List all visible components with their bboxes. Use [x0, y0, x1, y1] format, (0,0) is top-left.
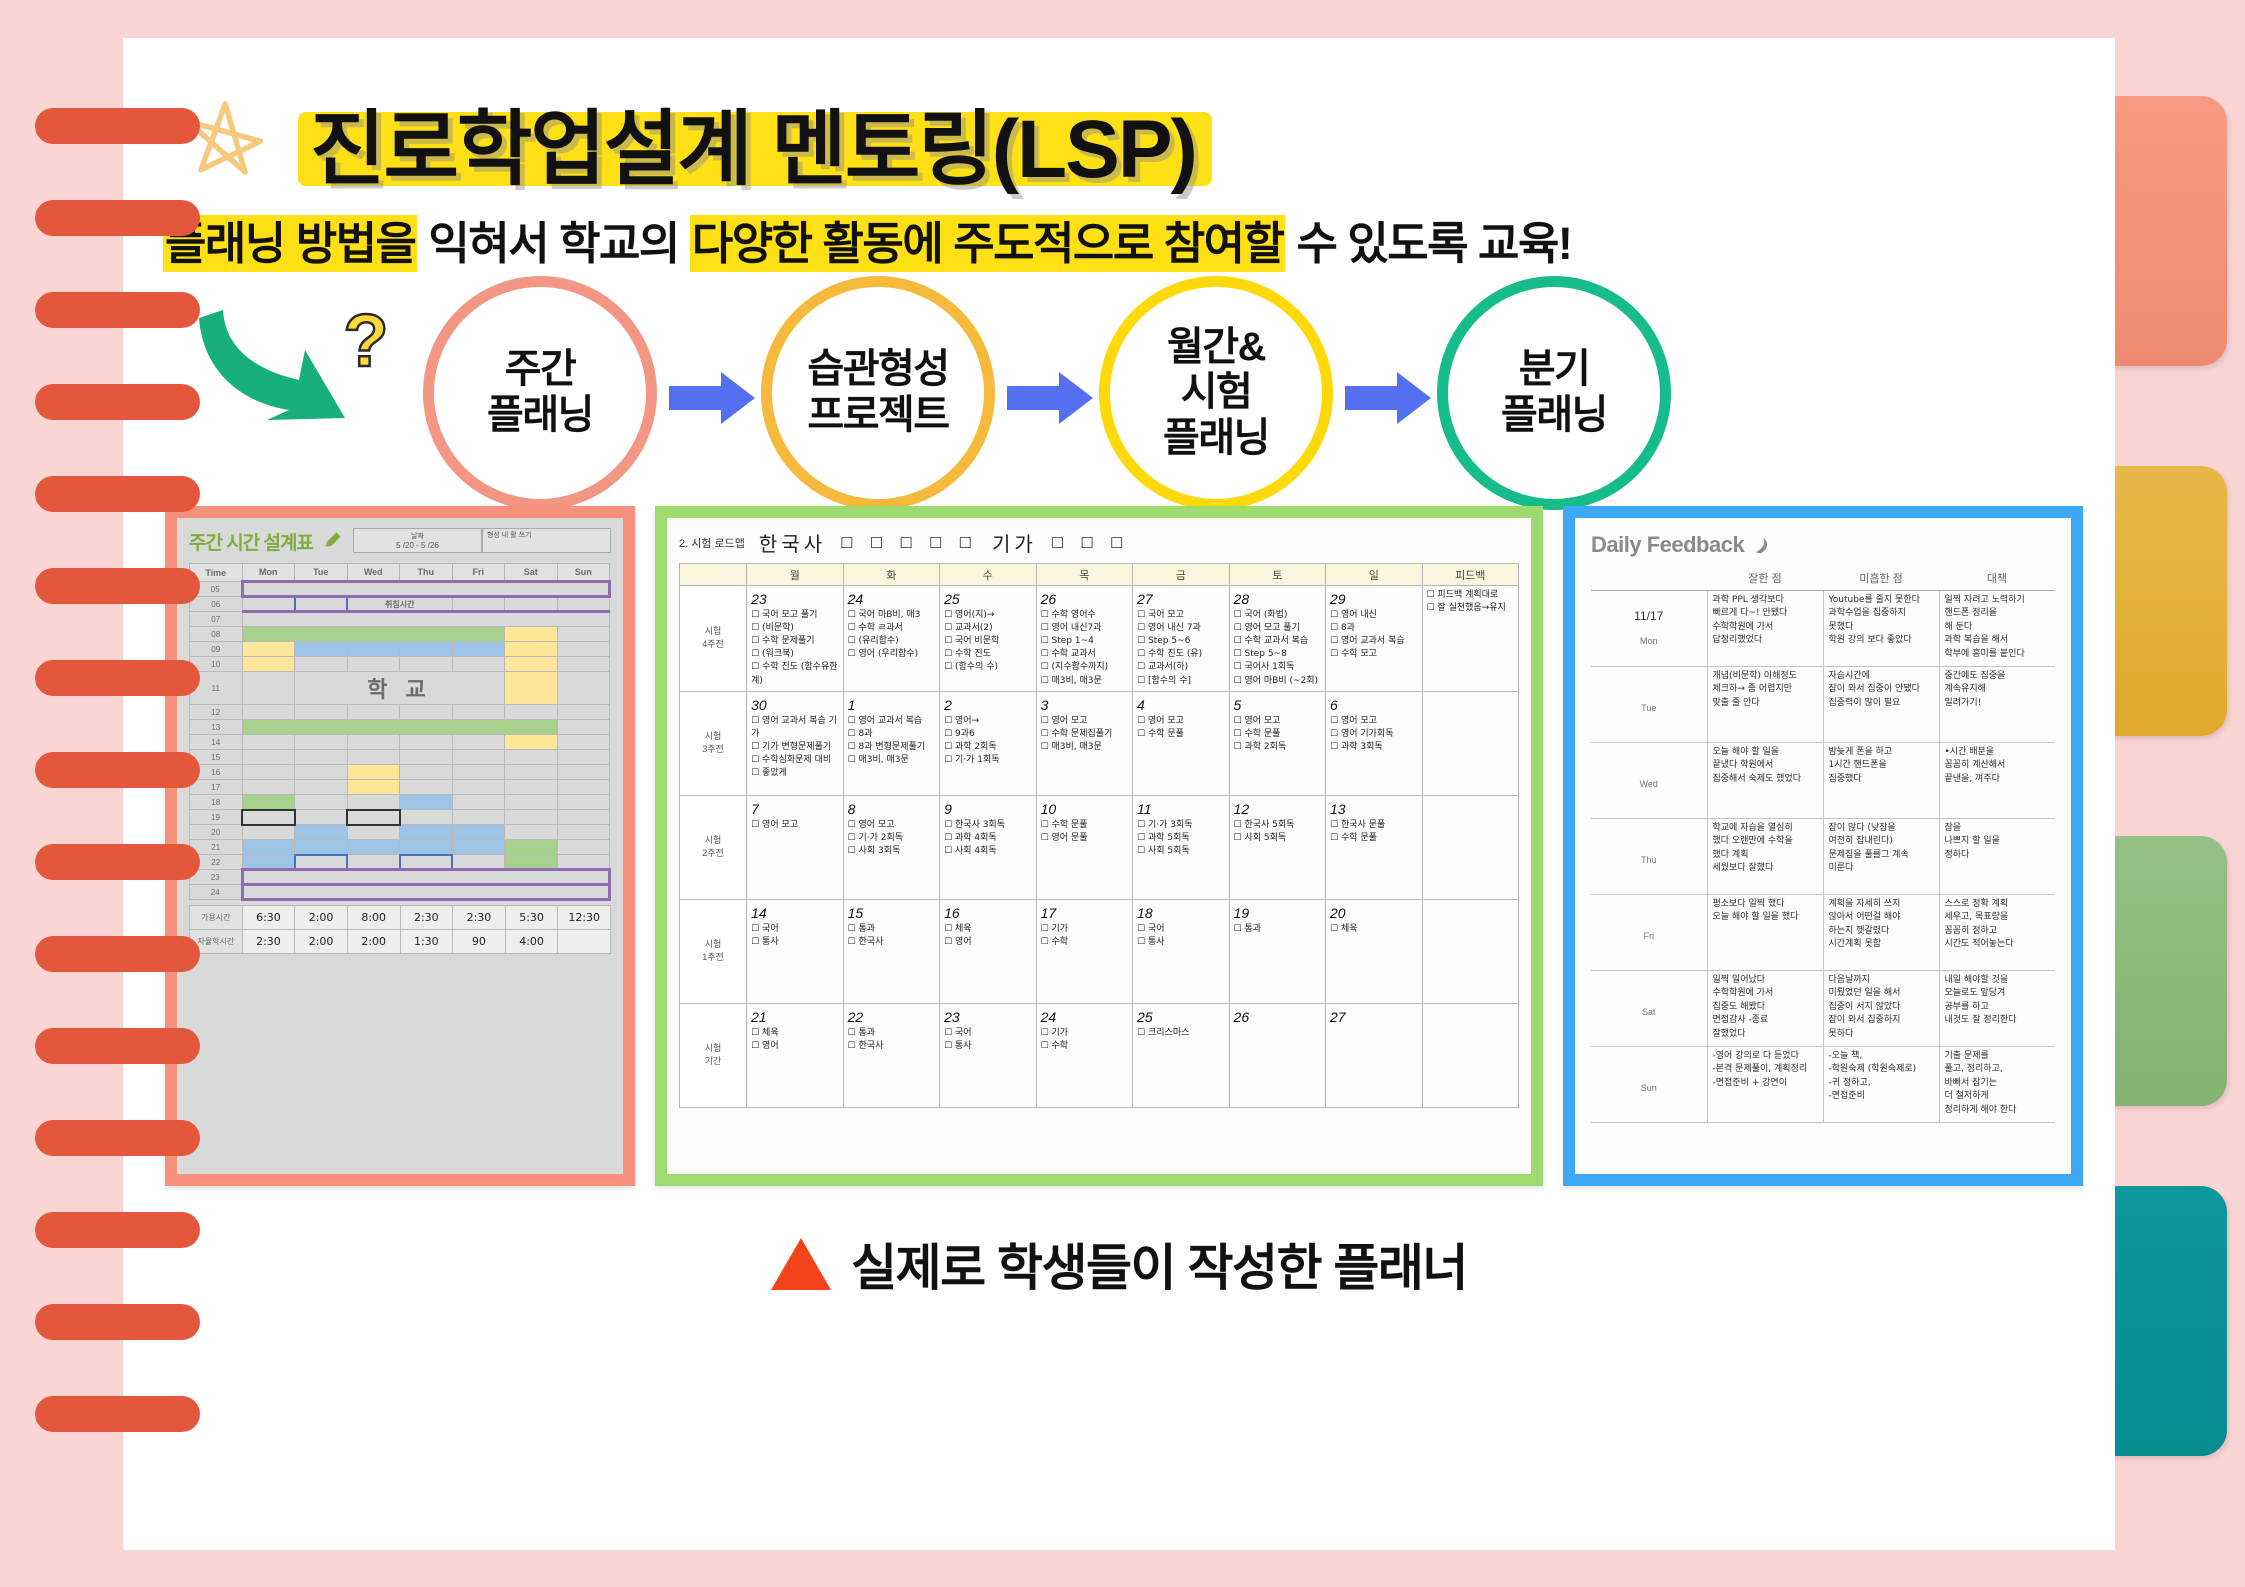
flow-step-2-label: 습관형성 프로젝트: [807, 347, 948, 438]
roadmap-day-cell: 23☐ 국어 모고 풀기☐ (비문학)☐ 수학 문제풀기☐ (워크북)☐ 수학 …: [747, 586, 843, 692]
roadmap-task-line: ☐ [함수의 수]: [1137, 675, 1224, 688]
roadmap-day-number: 23: [751, 589, 838, 609]
caption-text: 실제로 학생들이 작성한 플래너: [851, 1228, 1467, 1300]
roadmap-day-cell: [1422, 1003, 1519, 1107]
weekly-date-value: 5 /20 - 5 /26: [358, 541, 477, 550]
planner-weekly-sheet: 주간 시간 설계표 날짜 5 /20 - 5 /26 형성 내 활 쓰기: [177, 518, 623, 1174]
table-row: Tue개념(비문학) 이해정도 체크하→ 좀 어렵지만 맞출 줄 안다자습시간에…: [1591, 666, 2055, 742]
roadmap-day-cell: 23☐ 국어☐ 통사: [940, 1003, 1036, 1107]
roadmap-day-number: 24: [848, 589, 935, 609]
subtitle-part-2: 익혀서 학교의: [417, 218, 689, 269]
feedback-good-cell: -영어 강의로 다 듣었다 -본격 문제풀이, 계획정리 -면접준비 + 강연이: [1707, 1046, 1823, 1122]
roadmap-week-label: 시험 3주전: [680, 691, 747, 795]
roadmap-day-number: 26: [1041, 589, 1128, 609]
roadmap-task-line: ☐ 과학 3회독: [1330, 741, 1417, 754]
table-row: 시험 4주전23☐ 국어 모고 풀기☐ (비문학)☐ 수학 문제풀기☐ (워크북…: [680, 586, 1519, 692]
feedback-bad-cell: -오늘 책, -학원숙제 (학원숙제로) -귀 정하고, -면접준비: [1823, 1046, 1939, 1122]
roadmap-day-number: 6: [1330, 695, 1417, 715]
weekly-date-label: 날짜: [358, 531, 477, 541]
roadmap-day-number: 25: [1137, 1007, 1224, 1027]
subtitle-part-4: 수 있도록 교육!: [1285, 218, 1571, 269]
table-row: 13: [190, 720, 610, 735]
weekly-foot-label-0: 가용시간: [190, 906, 243, 930]
roadmap-day-cell: 18☐ 국어☐ 통사: [1133, 899, 1229, 1003]
roadmap-checkboxes-1: ☐ ☐ ☐ ☐ ☐: [840, 534, 978, 552]
weekly-tick: 08: [190, 627, 243, 642]
roadmap-task-line: ☐ 영어(지)→: [944, 609, 1031, 622]
weekly-col-5: Fri: [452, 564, 505, 582]
weekly-title: 주간 시간 설계표: [189, 528, 313, 555]
roadmap-task-line: ☐ 영어 (우리함수): [848, 648, 935, 661]
roadmap-col-2: 수: [940, 564, 1036, 586]
svg-text:?: ?: [343, 299, 388, 382]
roadmap-day-cell: 7☐ 영어 모고: [747, 795, 843, 899]
feedback-date: 11/17: [1596, 607, 1702, 625]
planner-roadmap-frame[interactable]: 2. 시험 로드맵 한국사 ☐ ☐ ☐ ☐ ☐ 기가 ☐ ☐ ☐ 월 화 수 목: [655, 506, 1543, 1186]
weekly-tick: 17: [190, 780, 243, 795]
feedback-table-body: 11/17Mon과학 PPL 생각보다 빠르게 다~! 안됐다 수학학원에 가서…: [1591, 590, 2055, 1122]
roadmap-day-number: 12: [1234, 799, 1321, 819]
roadmap-task-line: ☐ 영어 모고: [751, 819, 838, 832]
roadmap-task-line: ☐ 사회 5회독: [1234, 832, 1321, 845]
weekly-tick: 16: [190, 765, 243, 780]
paper-sheet: 진로학업설계 멘토링(LSP) 플래닝 방법을 익혀서 학교의 다양한 활동에 …: [123, 38, 2115, 1550]
roadmap-day-number: 11: [1137, 799, 1224, 819]
flow-step-4[interactable]: 분기 플래닝: [1437, 276, 1671, 510]
flow-arrow-3: [1345, 372, 1431, 424]
flow-step-3-label: 월간& 시험 플래닝: [1163, 325, 1269, 462]
feedback-col-3: 대책: [1939, 566, 2055, 590]
ribbon-icon: [1750, 534, 1772, 556]
feedback-day-cell: Wed: [1591, 742, 1707, 818]
table-row: 시험 3주전30☐ 영어 교과서 복습 기가☐ 기가 변형문제풀기☐ 수학심화문…: [680, 691, 1519, 795]
roadmap-day-cell: 30☐ 영어 교과서 복습 기가☐ 기가 변형문제풀기☐ 수학심화문제 대비☐ …: [747, 691, 843, 795]
planner-roadmap-sheet: 2. 시험 로드맵 한국사 ☐ ☐ ☐ ☐ ☐ 기가 ☐ ☐ ☐ 월 화 수 목: [667, 518, 1531, 1174]
flow-arrow-2: [1007, 372, 1093, 424]
roadmap-task-line: ☐ 과학 5회독: [1137, 832, 1224, 845]
roadmap-day-cell: 28☐ 국어 (화법)☐ 영어 모고 풀기☐ 수학 교과서 복습☐ Step 5…: [1229, 586, 1325, 692]
table-row: 06취침시간: [190, 597, 610, 612]
feedback-good-cell: 학교에 자습을 열심히 했다 오랜만에 수학을 했다 계획 세웠보다 잘했다: [1707, 818, 1823, 894]
roadmap-task-line: ☐ 매3비, 매3문: [848, 754, 935, 767]
roadmap-day-cell: 12☐ 한국사 5회독☐ 사회 5회독: [1229, 795, 1325, 899]
roadmap-task-line: ☐ 수학 진도 (유): [1137, 648, 1224, 661]
roadmap-task-line: ☐ 영어 마B비 (~2회): [1234, 675, 1321, 688]
weekly-foot-1-3: 1:30: [400, 930, 453, 954]
roadmap-task-line: ☐ 체육: [944, 923, 1031, 936]
weekly-col-3: Wed: [347, 564, 400, 582]
roadmap-col-4: 금: [1133, 564, 1229, 586]
roadmap-day-number: 14: [751, 903, 838, 923]
weekly-tick: 23: [190, 870, 243, 885]
table-row: 17: [190, 780, 610, 795]
flow-arrow-1: [669, 372, 755, 424]
feedback-bad-cell: 계획을 자세히 쓰지 않아서 어떤걸 해야 하는지 헷갈렸다 시간계획 못함: [1823, 894, 1939, 970]
feedback-plan-cell: 내일 해야할 것을 오늘로도 앞당겨 공부를 하고 내것도 잘 정리한다: [1939, 970, 2055, 1046]
roadmap-subject-1: 한국사: [759, 528, 826, 557]
weekly-tick: 12: [190, 705, 243, 720]
roadmap-day-number: 17: [1041, 903, 1128, 923]
feedback-bad-cell: 밤늦게 폰을 하고 1시간 핸드폰을 집중했다: [1823, 742, 1939, 818]
table-row: Sat일찍 일어났다 수학학원에 가서 집중도 해봤다 면접감사 -종료 잘했었…: [1591, 970, 2055, 1046]
roadmap-task-line: ☐ 영어 교과서 복습 기가: [751, 715, 838, 741]
roadmap-task-line: ☐ 한국사 3회독: [944, 819, 1031, 832]
weekly-note: 형성 내 활 쓰기: [482, 528, 611, 553]
roadmap-day-number: 2: [944, 695, 1031, 715]
roadmap-task-line: ☐ 통사: [1137, 936, 1224, 949]
roadmap-task-line: ☐ 영어 모고 풀기: [1234, 622, 1321, 635]
roadmap-task-line: ☐ 국어 비문학: [944, 635, 1031, 648]
flow-step-1-label: 주간 플래닝: [487, 347, 593, 438]
roadmap-day-cell: 3☐ 영어 모고☐ 수학 문제집풀기☐ 매3비, 매3문: [1036, 691, 1132, 795]
weekly-foot-label-1: 자율학시간: [190, 930, 243, 954]
table-row: 15: [190, 750, 610, 765]
table-row: 20: [190, 825, 610, 840]
feedback-table-header: 잘한 점 미흡한 점 대책: [1591, 566, 2055, 590]
roadmap-day-number: 19: [1234, 903, 1321, 923]
roadmap-day-number: 27: [1330, 1007, 1417, 1027]
roadmap-day-cell: 2☐ 영어→☐ 9과6☐ 과학 2회독☐ 기·가 1회독: [940, 691, 1036, 795]
roadmap-table: 월 화 수 목 금 토 일 피드백 시험 4주전23☐ 국어 모고 풀기☐ (비…: [679, 563, 1519, 1108]
roadmap-header: 2. 시험 로드맵 한국사 ☐ ☐ ☐ ☐ ☐ 기가 ☐ ☐ ☐: [679, 528, 1519, 557]
weekly-foot-1-0: 2:30: [242, 930, 295, 954]
roadmap-task-line: ☐ 잘 실천했음→유지: [1427, 602, 1515, 615]
weekly-col-4: Thu: [400, 564, 453, 582]
roadmap-day-cell: 17☐ 기가☐ 수학: [1036, 899, 1132, 1003]
roadmap-day-cell: [1422, 899, 1519, 1003]
feedback-good-cell: 과학 PPL 생각보다 빠르게 다~! 안됐다 수학학원에 가서 답정리했었다: [1707, 590, 1823, 666]
subtitle: 플래닝 방법을 익혀서 학교의 다양한 활동에 주도적으로 참여할 수 있도록 …: [163, 216, 2087, 272]
roadmap-day-cell: 26: [1229, 1003, 1325, 1107]
weekly-foot-0-6: 12:30: [558, 906, 611, 930]
roadmap-task-line: ☐ 수학 ㄹ과서: [848, 622, 935, 635]
roadmap-task-line: ☐ 과학 2회독: [944, 741, 1031, 754]
roadmap-day-number: 5: [1234, 695, 1321, 715]
feedback-plan-cell: 스스로 정확 계획 세우고, 목표량을 꼼꼼히 정하고 시간도 적어놓는다: [1939, 894, 2055, 970]
roadmap-week-label: 시험 4주전: [680, 586, 747, 692]
roadmap-task-line: ☐ 영어 모고: [848, 819, 935, 832]
table-row: 18: [190, 795, 610, 810]
roadmap-day-cell: 1☐ 영어 교과서 복습☐ 8과☐ 8과 변형문제풀기☐ 매3비, 매3문: [843, 691, 939, 795]
weekly-tick: 07: [190, 612, 243, 627]
subtitle-part-3: 다양한 활동에 주도적으로 참여할: [690, 215, 1286, 272]
green-down-right-arrow-icon: [193, 292, 353, 422]
roadmap-task-line: ☐ 교과서(하): [1137, 661, 1224, 674]
roadmap-task-line: ☐ 체육: [751, 1027, 838, 1040]
feedback-weekday: Fri: [1596, 930, 1702, 944]
roadmap-day-cell: 20☐ 체육: [1326, 899, 1422, 1003]
table-row: 10: [190, 657, 610, 672]
roadmap-task-line: ☐ 영어 교과서 복습: [848, 715, 935, 728]
roadmap-task-line: ☐ 통과: [848, 1027, 935, 1040]
feedback-plan-cell: 기출 문제를 풀고, 정리하고, 바빠서 잠기는 더 철저하게 정리하게 해야 …: [1939, 1046, 2055, 1122]
roadmap-task-line: ☐ (워크북): [751, 648, 838, 661]
roadmap-task-line: ☐ 한국사 문풀: [1330, 819, 1417, 832]
flow-step-1[interactable]: 주간 플래닝: [423, 276, 657, 510]
feedback-day-cell: Thu: [1591, 818, 1707, 894]
roadmap-day-number: 23: [944, 1007, 1031, 1027]
roadmap-day-number: 3: [1041, 695, 1128, 715]
roadmap-section-label: 2. 시험 로드맵: [679, 535, 745, 551]
weekly-col-6: Sat: [505, 564, 558, 582]
roadmap-task-line: ☐ 국어 모고 풀기: [751, 609, 838, 622]
roadmap-day-number: 25: [944, 589, 1031, 609]
roadmap-col-0: 월: [747, 564, 843, 586]
roadmap-task-line: ☐ 국어 마B비, 매3: [848, 609, 935, 622]
feedback-col-0: [1591, 566, 1707, 590]
roadmap-task-line: ☐ (비문학): [751, 622, 838, 635]
roadmap-day-cell: 5☐ 영어 모고☐ 수학 문풀☐ 과학 2회독: [1229, 691, 1325, 795]
roadmap-task-line: ☐ 수학 문풀: [1137, 728, 1224, 741]
feedback-title: Daily Feedback: [1591, 532, 1744, 558]
roadmap-task-line: ☐ 수학 교과서: [1041, 648, 1128, 661]
roadmap-day-number: 9: [944, 799, 1031, 819]
weekly-table-body: 05 06취침시간 07 08 09 10 11학 교 12 13 14 15 …: [190, 582, 610, 900]
roadmap-task-line: ☐ 통과: [1234, 923, 1321, 936]
caption: 실제로 학생들이 작성한 플래너: [123, 1228, 2115, 1300]
roadmap-task-line: ☐ 영어 내신 7과: [1137, 622, 1224, 635]
roadmap-week-label: 시험 1주전: [680, 899, 747, 1003]
roadmap-task-line: ☐ 피드백 계획대로: [1427, 589, 1515, 602]
feedback-day-cell: 11/17Mon: [1591, 590, 1707, 666]
roadmap-day-cell: 25☐ 영어(지)→☐ 교과서(2)☐ 국어 비문학☐ 수학 진도☐ (함수의 …: [940, 586, 1036, 692]
header: 진로학업설계 멘토링(LSP): [168, 66, 2075, 196]
roadmap-week-label: 시험 2주전: [680, 795, 747, 899]
roadmap-day-number: 16: [944, 903, 1031, 923]
roadmap-task-line: ☐ (유리함수): [848, 635, 935, 648]
roadmap-table-header: 월 화 수 목 금 토 일 피드백: [680, 564, 1519, 586]
roadmap-day-cell: 27: [1326, 1003, 1422, 1107]
roadmap-day-number: 21: [751, 1007, 838, 1027]
feedback-title-row: Daily Feedback: [1591, 532, 2055, 558]
weekly-foot-1-6: [558, 930, 611, 954]
table-row: 21: [190, 840, 610, 855]
roadmap-day-cell: 10☐ 수학 문풀☐ 영어 문풀: [1036, 795, 1132, 899]
weekly-tick: 21: [190, 840, 243, 855]
roadmap-checkboxes-2: ☐ ☐ ☐: [1051, 534, 1130, 552]
roadmap-day-number: 10: [1041, 799, 1128, 819]
roadmap-task-line: ☐ 국어 (화법): [1234, 609, 1321, 622]
feedback-plan-cell: •시간 배분을 꼼꼼히 계산해서 끝낸을, 껴주다: [1939, 742, 2055, 818]
table-row: 11/17Mon과학 PPL 생각보다 빠르게 다~! 안됐다 수학학원에 가서…: [1591, 590, 2055, 666]
planner-gallery: 주간 시간 설계표 날짜 5 /20 - 5 /26 형성 내 활 쓰기: [165, 506, 2087, 1196]
table-row: 24: [190, 885, 610, 900]
table-row: 자율학시간 2:30 2:00 2:00 1:30 90 4:00: [190, 930, 611, 954]
subtitle-part-1: 플래닝 방법을: [163, 215, 417, 272]
roadmap-task-line: ☐ 영어 교과서 복습: [1330, 635, 1417, 648]
feedback-weekday: Wed: [1596, 778, 1702, 792]
table-row: 시험 2주전7☐ 영어 모고8☐ 영어 모고☐ 기·가 2회독☐ 사회 3회독9…: [680, 795, 1519, 899]
roadmap-day-cell: 15☐ 통과☐ 한국사: [843, 899, 939, 1003]
feedback-col-1: 잘한 점: [1707, 566, 1823, 590]
weekly-table-header: Time Mon Tue Wed Thu Fri Sat Sun: [190, 564, 610, 582]
roadmap-day-number: 13: [1330, 799, 1417, 819]
table-row: 12: [190, 705, 610, 720]
weekly-school-label: 학 교: [295, 672, 505, 705]
roadmap-day-cell: 22☐ 통과☐ 한국사: [843, 1003, 939, 1107]
feedback-weekday: Thu: [1596, 854, 1702, 868]
roadmap-task-line: ☐ 8과 변형문제풀기: [848, 741, 935, 754]
weekly-tick: 06: [190, 597, 243, 612]
weekly-tick: 15: [190, 750, 243, 765]
roadmap-task-line: ☐ 기가: [1041, 1027, 1128, 1040]
roadmap-task-line: ☐ 영어 내신: [1330, 609, 1417, 622]
roadmap-day-cell: [1422, 795, 1519, 899]
weekly-tick: 14: [190, 735, 243, 750]
roadmap-day-cell: 24☐ 기가☐ 수학: [1036, 1003, 1132, 1107]
table-row: Fri평소보다 일찍 했다 오늘 해야 할 일을 했다계획을 자세히 쓰지 않아…: [1591, 894, 2055, 970]
roadmap-day-cell: 9☐ 한국사 3회독☐ 과학 4회독☐ 사회 4회독: [940, 795, 1036, 899]
roadmap-task-line: ☐ 수학 문풀: [1041, 819, 1128, 832]
feedback-day-cell: Sat: [1591, 970, 1707, 1046]
roadmap-col-5: 토: [1229, 564, 1325, 586]
roadmap-week-label: 시험 기간: [680, 1003, 747, 1107]
feedback-table: 잘한 점 미흡한 점 대책 11/17Mon과학 PPL 생각보다 빠르게 다~…: [1591, 566, 2055, 1123]
flow-step-2[interactable]: 습관형성 프로젝트: [761, 276, 995, 510]
planner-feedback-frame[interactable]: Daily Feedback 잘한 점 미흡한 점 대책 11/17Mon과학 …: [1563, 506, 2083, 1186]
roadmap-task-line: ☐ 수학 영어수: [1041, 609, 1128, 622]
roadmap-task-line: ☐ 통사: [751, 936, 838, 949]
roadmap-day-number: 7: [751, 799, 838, 819]
poster-root: 진로학업설계 멘토링(LSP) 플래닝 방법을 익혀서 학교의 다양한 활동에 …: [0, 0, 2245, 1587]
roadmap-day-number: 4: [1137, 695, 1224, 715]
roadmap-col-7: 피드백: [1422, 564, 1519, 586]
roadmap-task-line: ☐ 교과서(2): [944, 622, 1031, 635]
roadmap-task-line: ☐ Step 5~8: [1234, 648, 1321, 661]
roadmap-day-cell: 27☐ 국어 모고☐ 영어 내신 7과☐ Step 5~6☐ 수학 진도 (유)…: [1133, 586, 1229, 692]
roadmap-task-line: ☐ 수학 문풀: [1234, 728, 1321, 741]
weekly-sleep-label: 취침시간: [347, 597, 452, 612]
roadmap-task-line: ☐ 사회 5회독: [1137, 845, 1224, 858]
roadmap-task-line: ☐ 영어: [751, 1040, 838, 1053]
feedback-good-cell: 평소보다 일찍 했다 오늘 해야 할 일을 했다: [1707, 894, 1823, 970]
roadmap-task-line: ☐ 수학 문제집풀기: [1041, 728, 1128, 741]
roadmap-task-line: ☐ 기가 변형문제풀기: [751, 741, 838, 754]
weekly-table: Time Mon Tue Wed Thu Fri Sat Sun 05 06취침…: [189, 563, 611, 901]
weekly-summary-table: 가용시간 6:30 2:00 8:00 2:30 2:30 5:30 12:30…: [189, 905, 611, 954]
weekly-foot-1-4: 90: [453, 930, 506, 954]
table-row: 09: [190, 642, 610, 657]
flow-step-4-label: 분기 플래닝: [1501, 347, 1607, 438]
roadmap-day-cell: 25☐ 크리스마스: [1133, 1003, 1229, 1107]
roadmap-day-number: 26: [1234, 1007, 1321, 1027]
roadmap-task-line: ☐ 사회 3회독: [848, 845, 935, 858]
roadmap-day-cell: 6☐ 영어 모고☐ 영어 기가회독☐ 과학 3회독: [1326, 691, 1422, 795]
table-row: 23: [190, 870, 610, 885]
feedback-good-cell: 개념(비문학) 이해정도 체크하→ 좀 어렵지만 맞출 줄 안다: [1707, 666, 1823, 742]
roadmap-task-line: ☐ 수학: [1041, 936, 1128, 949]
weekly-tick: 05: [190, 582, 243, 597]
weekly-foot-0-0: 6:30: [242, 906, 295, 930]
feedback-plan-cell: 잠을 나쁘지 할 일을 정하다: [1939, 818, 2055, 894]
roadmap-col-1: 화: [843, 564, 939, 586]
roadmap-task-line: ☐ 8과: [1330, 622, 1417, 635]
weekly-col-2: Tue: [295, 564, 348, 582]
weekly-col-7: Sun: [557, 564, 610, 582]
roadmap-task-line: ☐ 수학 진도 (함수유한계): [751, 661, 838, 687]
roadmap-task-line: ☐ 매3비, 매3문: [1041, 741, 1128, 754]
roadmap-task-line: ☐ 수학 진도: [944, 648, 1031, 661]
planner-feedback-sheet: Daily Feedback 잘한 점 미흡한 점 대책 11/17Mon과학 …: [1575, 518, 2071, 1174]
roadmap-col-6: 일: [1326, 564, 1422, 586]
roadmap-task-line: ☐ (함수의 수): [944, 661, 1031, 674]
roadmap-day-cell: 16☐ 체육☐ 영어: [940, 899, 1036, 1003]
roadmap-task-line: ☐ Step 5~6: [1137, 635, 1224, 648]
roadmap-task-line: ☐ 국어사 1회독: [1234, 661, 1321, 674]
table-row: 가용시간 6:30 2:00 8:00 2:30 2:30 5:30 12:30: [190, 906, 611, 930]
feedback-good-cell: 일찍 일어났다 수학학원에 가서 집중도 해봤다 면접감사 -종료 잘했었다: [1707, 970, 1823, 1046]
weekly-header: 주간 시간 설계표 날짜 5 /20 - 5 /26 형성 내 활 쓰기: [189, 528, 611, 555]
roadmap-task-line: ☐ 한국사: [848, 1040, 935, 1053]
roadmap-task-line: ☐ 영어 모고: [1041, 715, 1128, 728]
roadmap-day-cell: 19☐ 통과: [1229, 899, 1325, 1003]
roadmap-day-cell: 8☐ 영어 모고☐ 기·가 2회독☐ 사회 3회독: [843, 795, 939, 899]
weekly-tick: 24: [190, 885, 243, 900]
weekly-col-0: Time: [190, 564, 243, 582]
roadmap-day-cell: 11☐ 기·가 3회독☐ 과학 5회독☐ 사회 5회독: [1133, 795, 1229, 899]
table-row: 시험 1주전14☐ 국어☐ 통사15☐ 통과☐ 한국사16☐ 체육☐ 영어17☐…: [680, 899, 1519, 1003]
table-row: 22: [190, 855, 610, 870]
roadmap-task-line: ☐ 매3비, 매3문: [1041, 675, 1128, 688]
table-row: Sun-영어 강의로 다 듣었다 -본격 문제풀이, 계획정리 -면접준비 + …: [1591, 1046, 2055, 1122]
roadmap-day-cell: 21☐ 체육☐ 영어: [747, 1003, 843, 1107]
roadmap-task-line: ☐ 크리스마스: [1137, 1027, 1224, 1040]
roadmap-day-cell: ☐ 피드백 계획대로☐ 잘 실천했음→유지: [1422, 586, 1519, 692]
roadmap-day-number: 29: [1330, 589, 1417, 609]
feedback-weekday: Sat: [1596, 1006, 1702, 1020]
feedback-bad-cell: Youtube를 줄지 못한다 과학수업을 집중하지 못했다 학원 강의 보다 …: [1823, 590, 1939, 666]
roadmap-task-line: ☐ 영어 모고: [1234, 715, 1321, 728]
roadmap-day-cell: 13☐ 한국사 문풀☐ 수학 문풀: [1326, 795, 1422, 899]
roadmap-task-line: ☐ 수학 문풀: [1330, 832, 1417, 845]
red-triangle-icon: [771, 1238, 831, 1290]
feedback-weekday: Tue: [1596, 702, 1702, 716]
weekly-tick: 09: [190, 642, 243, 657]
feedback-bad-cell: 잠이 많다 (낮잠을 여전히 잡내린다) 문제집을 풀를그 계속 미룬다: [1823, 818, 1939, 894]
weekly-tick: 19: [190, 810, 243, 825]
weekly-tick: 10: [190, 657, 243, 672]
roadmap-day-number: 22: [848, 1007, 935, 1027]
weekly-tick: 20: [190, 825, 243, 840]
roadmap-day-cell: 26☐ 수학 영어수☐ 영어 내신7과☐ Step 1~4☐ 수학 교과서☐ (…: [1036, 586, 1132, 692]
roadmap-task-line: ☐ 과학 4회독: [944, 832, 1031, 845]
weekly-foot-1-1: 2:00: [295, 930, 348, 954]
roadmap-task-line: ☐ 한국사: [848, 936, 935, 949]
roadmap-day-cell: 14☐ 국어☐ 통사: [747, 899, 843, 1003]
roadmap-task-line: ☐ 과학 2회독: [1234, 741, 1321, 754]
roadmap-task-line: ☐ 영어 모고: [1330, 715, 1417, 728]
roadmap-task-line: ☐ 영어→: [944, 715, 1031, 728]
roadmap-task-line: ☐ 체육: [1330, 923, 1417, 936]
roadmap-task-line: ☐ 8과: [848, 728, 935, 741]
roadmap-col-3: 목: [1036, 564, 1132, 586]
roadmap-day-number: 8: [848, 799, 935, 819]
feedback-day-cell: Tue: [1591, 666, 1707, 742]
weekly-tick: 22: [190, 855, 243, 870]
roadmap-task-line: ☐ 수학: [1041, 1040, 1128, 1053]
roadmap-day-number: 24: [1041, 1007, 1128, 1027]
flow-step-3[interactable]: 월간& 시험 플래닝: [1099, 276, 1333, 510]
feedback-bad-cell: 자습시간에 잠이 와서 집중이 안됐다 집중력이 많이 필요: [1823, 666, 1939, 742]
feedback-day-cell: Sun: [1591, 1046, 1707, 1122]
roadmap-day-number: 20: [1330, 903, 1417, 923]
planner-weekly-frame[interactable]: 주간 시간 설계표 날짜 5 /20 - 5 /26 형성 내 활 쓰기: [165, 506, 635, 1186]
roadmap-task-line: ☐ 통사: [944, 1040, 1031, 1053]
roadmap-task-line: ☐ 국어: [751, 923, 838, 936]
roadmap-task-line: ☐ 영어 문풀: [1041, 832, 1128, 845]
table-row: 14: [190, 735, 610, 750]
roadmap-day-number: 30: [751, 695, 838, 715]
